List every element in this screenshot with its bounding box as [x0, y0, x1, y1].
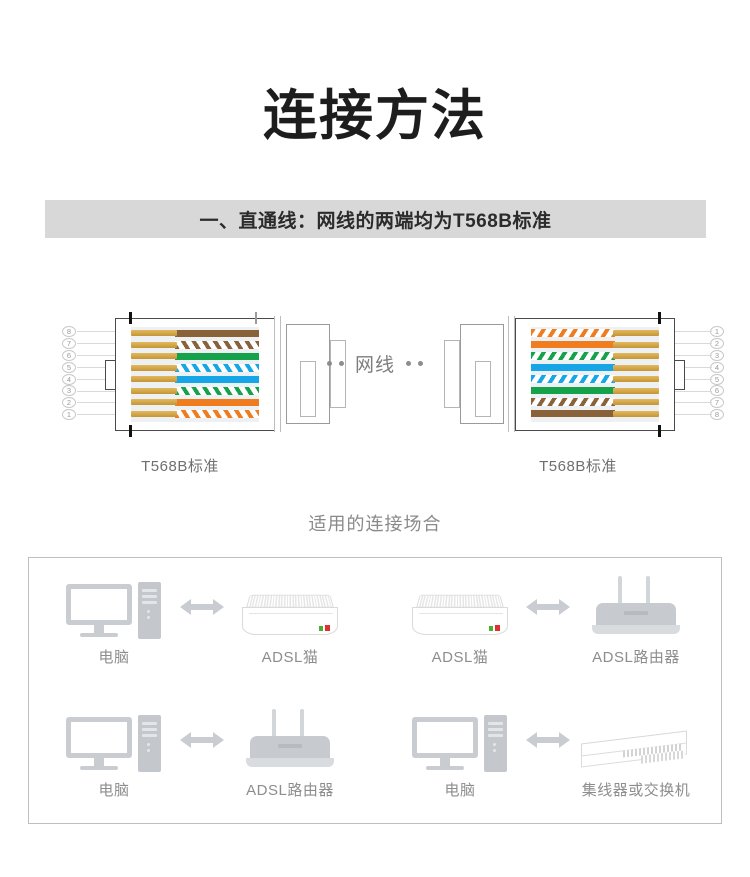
left-plug-tab-notch: [105, 360, 115, 390]
wire-insulation-orange: [531, 341, 615, 348]
monitor-screen: [66, 584, 132, 625]
wire-insulation-white-orange: [175, 410, 259, 418]
right-plug-bar-top: [658, 312, 661, 324]
scenario-right-device: ADSL路由器: [577, 574, 695, 667]
pin-number: 6: [710, 385, 724, 396]
monitor-screen: [412, 717, 478, 758]
double-arrow-icon: [180, 597, 224, 617]
wire-insulation-white-brown: [175, 341, 259, 349]
wire-row: [131, 352, 259, 360]
modem-body: [242, 607, 338, 635]
pin-number: 4: [62, 374, 76, 385]
modem-body: [412, 607, 508, 635]
pin-number: 4: [710, 362, 724, 373]
wire-row: [531, 352, 659, 360]
pc-tower: [484, 715, 507, 772]
scenario-right-device: ADSL路由器: [231, 707, 349, 800]
cable-label-text: 网线: [351, 350, 399, 377]
gold-contact: [131, 388, 177, 394]
adsl-modem-icon: [408, 594, 512, 640]
pin-number: 6: [62, 350, 76, 361]
wire-insulation-white-blue: [531, 375, 615, 383]
scenario-right-device: ADSL猫: [231, 574, 349, 667]
scenario-pair: 电脑ADSL路由器: [55, 707, 349, 800]
wire-row: [531, 410, 659, 418]
gold-contact: [131, 342, 177, 348]
wire-row: [531, 375, 659, 383]
wire-insulation-orange: [175, 399, 259, 406]
monitor-base: [80, 766, 118, 770]
double-arrow-icon: [180, 730, 224, 750]
device-art: [401, 707, 519, 773]
gold-contact: [131, 411, 177, 417]
wire-insulation-brown: [175, 330, 259, 337]
right-boot-cap: [444, 340, 460, 408]
left-boot-seam-b: [280, 316, 281, 432]
router-antenna-left: [618, 576, 622, 606]
wire-row: [531, 329, 659, 337]
device-label: ADSL猫: [432, 646, 489, 667]
right-rj45-plug: [515, 318, 675, 431]
monitor-neck: [440, 758, 450, 766]
pin-number: 2: [710, 338, 724, 349]
wire-row: [531, 387, 659, 395]
scenario-left-device: ADSL猫: [401, 574, 519, 667]
pin-number: 8: [710, 409, 724, 420]
wire-insulation-white-orange: [531, 329, 615, 337]
right-plug-tab-notch: [675, 360, 685, 390]
pin-number: 3: [710, 350, 724, 361]
device-label: 电脑: [98, 779, 129, 800]
left-wire-window: [131, 327, 259, 422]
gold-contact: [131, 399, 177, 405]
gold-contact: [613, 376, 659, 382]
scenarios-panel: 电脑ADSL猫ADSL猫ADSL路由器电脑ADSL路由器电脑集线器或交换机: [28, 557, 722, 824]
device-art: [231, 707, 349, 773]
page-root: 连接方法 一、直通线：网线的两端均为T568B标准 87654321: [0, 0, 750, 877]
wire-row: [131, 375, 259, 383]
section-banner: 一、直通线：网线的两端均为T568B标准: [45, 200, 706, 238]
router-icon: [234, 709, 346, 773]
pin-number: 8: [62, 326, 76, 337]
right-boot-inner: [475, 361, 491, 417]
wire-insulation-green: [531, 387, 615, 394]
pc-tower: [138, 715, 161, 772]
pin-number: 3: [62, 385, 76, 396]
dot-icon: [418, 361, 423, 366]
router-base: [592, 625, 680, 634]
router-base: [246, 758, 334, 767]
section-banner-text: 一、直通线：网线的两端均为T568B标准: [199, 206, 551, 233]
gold-contact: [613, 342, 659, 348]
device-label: 集线器或交换机: [582, 779, 691, 800]
scenario-connector-arrow: [173, 707, 231, 773]
device-art: [401, 574, 519, 640]
monitor-neck: [94, 758, 104, 766]
scenario-left-device: 电脑: [401, 707, 519, 800]
wire-insulation-green: [175, 353, 259, 360]
wire-row: [131, 398, 259, 406]
scenario-pair: 电脑ADSL猫: [55, 574, 349, 667]
desktop-computer-icon: [412, 715, 508, 773]
gold-contact: [131, 365, 177, 371]
gold-contact: [613, 388, 659, 394]
dot-icon: [339, 361, 344, 366]
router-logo: [278, 744, 302, 748]
modem-vent: [246, 595, 334, 608]
desktop-computer-icon: [66, 715, 162, 773]
left-boot-seam-a: [274, 316, 275, 432]
pin-number: 2: [62, 397, 76, 408]
scenario-cell-1: 电脑ADSL猫: [29, 558, 375, 691]
device-label: 电脑: [98, 646, 129, 667]
right-boot-seam-b: [508, 316, 509, 432]
gold-contact: [613, 399, 659, 405]
scenarios-grid: 电脑ADSL猫ADSL猫ADSL路由器电脑ADSL路由器电脑集线器或交换机: [29, 558, 721, 823]
left-plug-bar-bottom: [129, 425, 132, 437]
monitor-screen: [66, 717, 132, 758]
scenario-left-device: 电脑: [55, 574, 173, 667]
device-label: ADSL路由器: [592, 646, 680, 667]
scenario-pair: 电脑集线器或交换机: [401, 707, 695, 800]
device-label: 电脑: [444, 779, 475, 800]
modem-led-green: [319, 626, 323, 631]
modem-led-red: [495, 625, 500, 631]
desktop-computer-icon: [66, 582, 162, 640]
double-arrow-icon: [526, 730, 570, 750]
dot-icon: [406, 361, 411, 366]
gold-contact: [131, 353, 177, 359]
pin-number: 5: [710, 374, 724, 385]
gold-contact: [613, 365, 659, 371]
wire-row: [131, 410, 259, 418]
modem-led-red: [325, 625, 330, 631]
pin-number: 5: [62, 362, 76, 373]
pin-number: 1: [710, 326, 724, 337]
left-plug-bar-top: [129, 312, 132, 324]
device-art: [577, 707, 695, 773]
wire-row: [131, 364, 259, 372]
wire-row: [531, 364, 659, 372]
scenario-cell-3: 电脑ADSL路由器: [29, 691, 375, 824]
router-antenna-right: [646, 576, 650, 606]
scenario-right-device: 集线器或交换机: [577, 707, 695, 800]
wire-insulation-blue: [175, 376, 259, 383]
wire-row: [131, 329, 259, 337]
monitor-neck: [94, 625, 104, 633]
right-cable-boot: [440, 310, 518, 438]
wire-insulation-white-brown: [531, 398, 615, 406]
right-plug-bar-bottom: [658, 425, 661, 437]
right-wire-window: [531, 327, 659, 422]
scenario-left-device: 电脑: [55, 707, 173, 800]
pin-number: 1: [62, 409, 76, 420]
device-art: [577, 574, 695, 640]
adsl-modem-icon: [238, 594, 342, 640]
router-antenna-right: [300, 709, 304, 739]
router-logo: [624, 611, 648, 615]
monitor-base: [80, 633, 118, 637]
applicable-scenarios-caption: 适用的连接场合: [0, 510, 750, 536]
pin-number: 7: [710, 397, 724, 408]
pin-number: 7: [62, 338, 76, 349]
page-title: 连接方法: [0, 84, 750, 148]
gold-contact: [613, 330, 659, 336]
device-art: [231, 574, 349, 640]
device-art: [55, 574, 173, 640]
gold-contact: [613, 353, 659, 359]
double-arrow-icon: [526, 597, 570, 617]
left-standard-caption: T568B标准: [80, 455, 280, 476]
wire-insulation-white-green: [175, 387, 259, 395]
right-pin-numbers: 12345678: [710, 326, 728, 421]
wire-insulation-white-blue: [175, 364, 259, 372]
scenario-pair: ADSL猫ADSL路由器: [401, 574, 695, 667]
gold-contact: [131, 376, 177, 382]
dot-icon: [327, 361, 332, 366]
scenario-connector-arrow: [173, 574, 231, 640]
wire-row: [131, 341, 259, 349]
scenario-connector-arrow: [519, 574, 577, 640]
right-boot-seam-a: [514, 316, 515, 432]
left-rj45-plug: [115, 318, 275, 431]
device-label: ADSL路由器: [246, 779, 334, 800]
wire-row: [531, 341, 659, 349]
router-antenna-left: [272, 709, 276, 739]
wire-insulation-brown: [531, 410, 615, 417]
left-plug-edge-top: [255, 312, 257, 324]
scenario-connector-arrow: [519, 707, 577, 773]
right-boot-body: [460, 324, 504, 424]
cable-middle-label: 网线: [310, 346, 440, 380]
scenario-cell-4: 电脑集线器或交换机: [375, 691, 721, 824]
pc-tower: [138, 582, 161, 639]
wire-insulation-blue: [531, 364, 615, 371]
switch-icon: [577, 723, 695, 773]
monitor-base: [426, 766, 464, 770]
gold-contact: [613, 411, 659, 417]
device-art: [55, 707, 173, 773]
right-standard-caption: T568B标准: [478, 455, 678, 476]
wire-row: [131, 387, 259, 395]
gold-contact: [131, 330, 177, 336]
right-connector-group: 12345678: [440, 300, 730, 450]
modem-led-green: [489, 626, 493, 631]
wire-row: [531, 398, 659, 406]
scenario-cell-2: ADSL猫ADSL路由器: [375, 558, 721, 691]
modem-vent: [416, 595, 504, 608]
router-icon: [580, 576, 692, 640]
left-connector-group: 87654321: [60, 300, 350, 450]
wire-insulation-white-green: [531, 352, 615, 360]
device-label: ADSL猫: [262, 646, 319, 667]
